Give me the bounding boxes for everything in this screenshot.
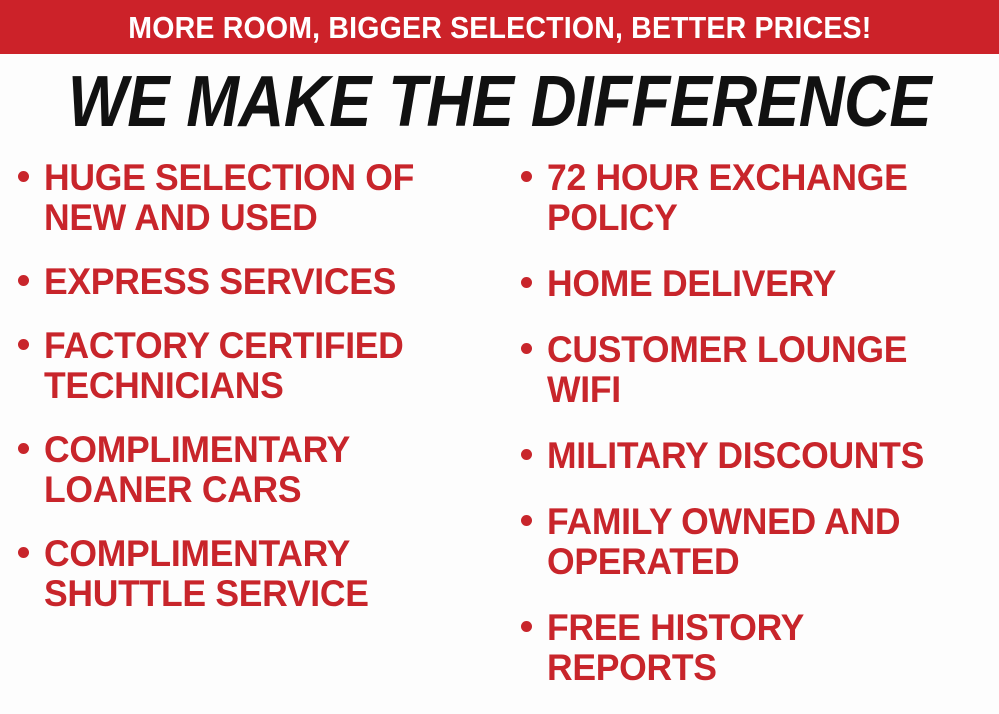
list-item: FREE HISTORY REPORTS (521, 608, 997, 688)
bullet-point-icon (18, 547, 29, 558)
bullet-point-icon (521, 343, 532, 354)
list-item: COMPLIMENTARY SHUTTLE SERVICE (18, 534, 501, 614)
benefit-label: HUGE SELECTION OF NEW AND USED (44, 158, 483, 238)
bullet-point-icon (18, 275, 29, 286)
benefit-label: FAMILY OWNED AND OPERATED (547, 502, 979, 582)
list-item: 72 HOUR EXCHANGE POLICY (521, 158, 997, 238)
list-item: COMPLIMENTARY LOANER CARS (18, 430, 501, 510)
bullet-point-icon (521, 171, 532, 182)
list-item: FACTORY CERTIFIED TECHNICIANS (18, 326, 501, 406)
bullet-point-icon (521, 515, 532, 526)
list-item: EXPRESS SERVICES (18, 262, 501, 302)
bullet-point-icon (18, 171, 29, 182)
benefit-label: HOME DELIVERY (547, 264, 979, 304)
list-item: CUSTOMER LOUNGE WIFI (521, 330, 997, 410)
bullet-point-icon (521, 449, 532, 460)
promo-header-bar: MORE ROOM, BIGGER SELECTION, BETTER PRIC… (0, 0, 999, 54)
benefit-label: EXPRESS SERVICES (44, 262, 483, 302)
benefit-label: COMPLIMENTARY SHUTTLE SERVICE (44, 534, 483, 614)
bullet-point-icon (521, 621, 532, 632)
benefits-column-left: HUGE SELECTION OF NEW AND USED EXPRESS S… (0, 158, 505, 638)
benefit-label: COMPLIMENTARY LOANER CARS (44, 430, 483, 510)
benefit-label: FREE HISTORY REPORTS (547, 608, 979, 688)
benefits-columns: HUGE SELECTION OF NEW AND USED EXPRESS S… (0, 158, 999, 692)
bullet-point-icon (18, 339, 29, 350)
list-item: HUGE SELECTION OF NEW AND USED (18, 158, 501, 238)
promo-header-text: MORE ROOM, BIGGER SELECTION, BETTER PRIC… (128, 12, 871, 43)
page-title: WE MAKE THE DIFFERENCE (68, 66, 931, 138)
bullet-point-icon (521, 277, 532, 288)
list-item: FAMILY OWNED AND OPERATED (521, 502, 997, 582)
bullet-point-icon (18, 443, 29, 454)
benefit-label: FACTORY CERTIFIED TECHNICIANS (44, 326, 483, 406)
benefit-label: CUSTOMER LOUNGE WIFI (547, 330, 979, 410)
headline-container: WE MAKE THE DIFFERENCE (0, 62, 999, 142)
benefit-label: 72 HOUR EXCHANGE POLICY (547, 158, 979, 238)
benefits-column-right: 72 HOUR EXCHANGE POLICY HOME DELIVERY CU… (505, 158, 999, 714)
list-item: HOME DELIVERY (521, 264, 997, 304)
benefit-label: MILITARY DISCOUNTS (547, 436, 979, 476)
promotional-banner: MORE ROOM, BIGGER SELECTION, BETTER PRIC… (0, 0, 999, 692)
list-item: MILITARY DISCOUNTS (521, 436, 997, 476)
